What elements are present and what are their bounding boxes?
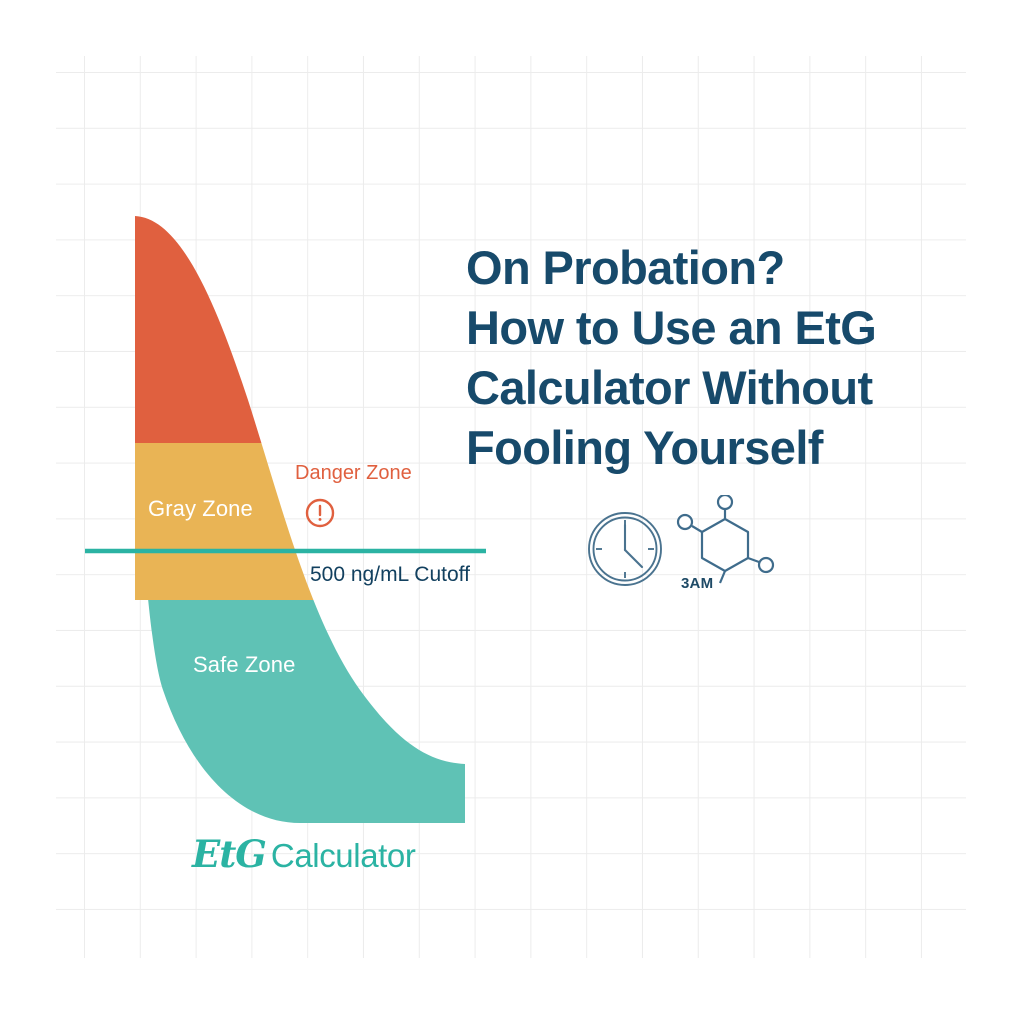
icon-cluster [580, 495, 780, 605]
molecule-time-label: 3AM [681, 575, 713, 592]
headline-line-2: How to Use an EtG [466, 298, 976, 358]
brand-logo: EtGCalculator [192, 832, 415, 876]
zone-label-safe: Safe Zone [193, 652, 295, 678]
poster-canvas: Gray Zone Safe Zone Danger Zone 500 ng/m… [0, 0, 1024, 1024]
warning-exclamation-circle-icon [304, 497, 336, 529]
headline-line-3: Calculator Without [466, 358, 976, 418]
zone-label-danger: Danger Zone [295, 462, 412, 485]
cutoff-label: 500 ng/mL Cutoff [310, 563, 470, 587]
logo-wordmark: Calculator [271, 837, 416, 874]
logo-mark: EtG [192, 832, 266, 876]
headline-line-1: On Probation? [466, 238, 976, 298]
zone-label-gray: Gray Zone [148, 496, 253, 522]
clock-icon [589, 513, 661, 585]
zone-area-safe [120, 600, 520, 840]
page-title: On Probation? How to Use an EtG Calculat… [466, 238, 976, 478]
headline-line-4: Fooling Yourself [466, 418, 976, 478]
molecule-icon [678, 495, 773, 583]
zone-area-danger [120, 200, 520, 443]
